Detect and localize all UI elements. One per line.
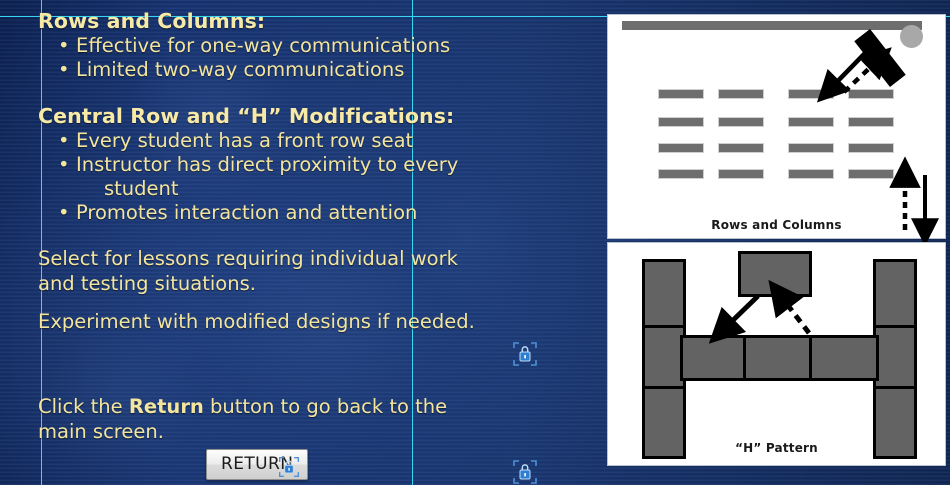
paragraph-line: Select for lessons requiring individual … <box>38 247 458 270</box>
lock-icon <box>512 459 538 485</box>
bullet-text-continuation: student <box>76 177 558 201</box>
bullet-text: Promotes interaction and attention <box>76 201 417 224</box>
lock-badge-button[interactable] <box>512 459 538 485</box>
heading-rows-and-columns: Rows and Columns: <box>38 8 558 34</box>
list-item: • Limited two-way communications <box>38 58 558 82</box>
bullet-dot-icon: • <box>58 34 70 58</box>
spacer <box>38 225 558 246</box>
paragraph-select-for-lessons: Select for lessons requiring individual … <box>38 246 558 296</box>
lock-badge-return-button[interactable] <box>278 456 300 478</box>
list-item: • Every student has a front row seat <box>38 129 558 153</box>
closing-second-line: main screen. <box>38 420 164 443</box>
bullet-text: Every student has a front row seat <box>76 129 413 152</box>
diagram-rows-and-columns[interactable]: Rows and Columns <box>607 14 946 239</box>
arrow-solid-instructor-to-students <box>832 48 870 87</box>
lock-badge-text[interactable] <box>512 341 538 367</box>
paragraph-click-return: Click the Return button to go back to th… <box>38 394 558 444</box>
slide-text-column: Rows and Columns: • Effective for one-wa… <box>38 8 558 444</box>
diagram-caption: Rows and Columns <box>608 218 945 232</box>
list-item: • Effective for one-way communications <box>38 34 558 58</box>
arrow-dashed-students-to-instructor <box>844 62 876 92</box>
spacer <box>38 82 558 103</box>
bullet-list-rows-and-columns: • Effective for one-way communications •… <box>38 34 558 82</box>
bullet-list-central-row: • Every student has a front row seat • I… <box>38 129 558 225</box>
closing-prefix: Click the <box>38 395 129 418</box>
bullet-dot-icon: • <box>58 58 70 82</box>
diagram-arrows-overlay <box>608 243 945 465</box>
slide-canvas: Rows and Columns: • Effective for one-wa… <box>0 0 950 485</box>
list-item: • Instructor has direct proximity to eve… <box>38 153 558 201</box>
bullet-text: Limited two-way communications <box>76 58 404 81</box>
bullet-dot-icon: • <box>58 153 70 177</box>
paragraph-line: and testing situations. <box>38 272 256 295</box>
bullet-text: Instructor has direct proximity to every <box>76 153 458 176</box>
spacer <box>38 296 558 309</box>
closing-suffix: button to go back to the <box>204 395 447 418</box>
lock-icon <box>512 341 538 367</box>
diagram-arrows-overlay <box>608 15 945 238</box>
bullet-dot-icon: • <box>58 201 70 225</box>
bullet-dot-icon: • <box>58 129 70 153</box>
paragraph-experiment: Experiment with modified designs if need… <box>38 309 558 334</box>
closing-emphasis: Return <box>129 395 204 418</box>
list-item: • Promotes interaction and attention <box>38 201 558 225</box>
spacer <box>38 334 558 394</box>
heading-central-row-h-modifications: Central Row and “H” Modifications: <box>38 103 558 129</box>
diagram-h-pattern[interactable]: “H” Pattern <box>607 242 946 466</box>
arrow-solid-instructor-to-students <box>726 296 758 327</box>
lock-icon <box>278 456 300 478</box>
arrow-dashed-students-to-instructor <box>783 299 809 333</box>
bullet-text: Effective for one-way communications <box>76 34 450 57</box>
diagram-caption: “H” Pattern <box>608 441 945 455</box>
